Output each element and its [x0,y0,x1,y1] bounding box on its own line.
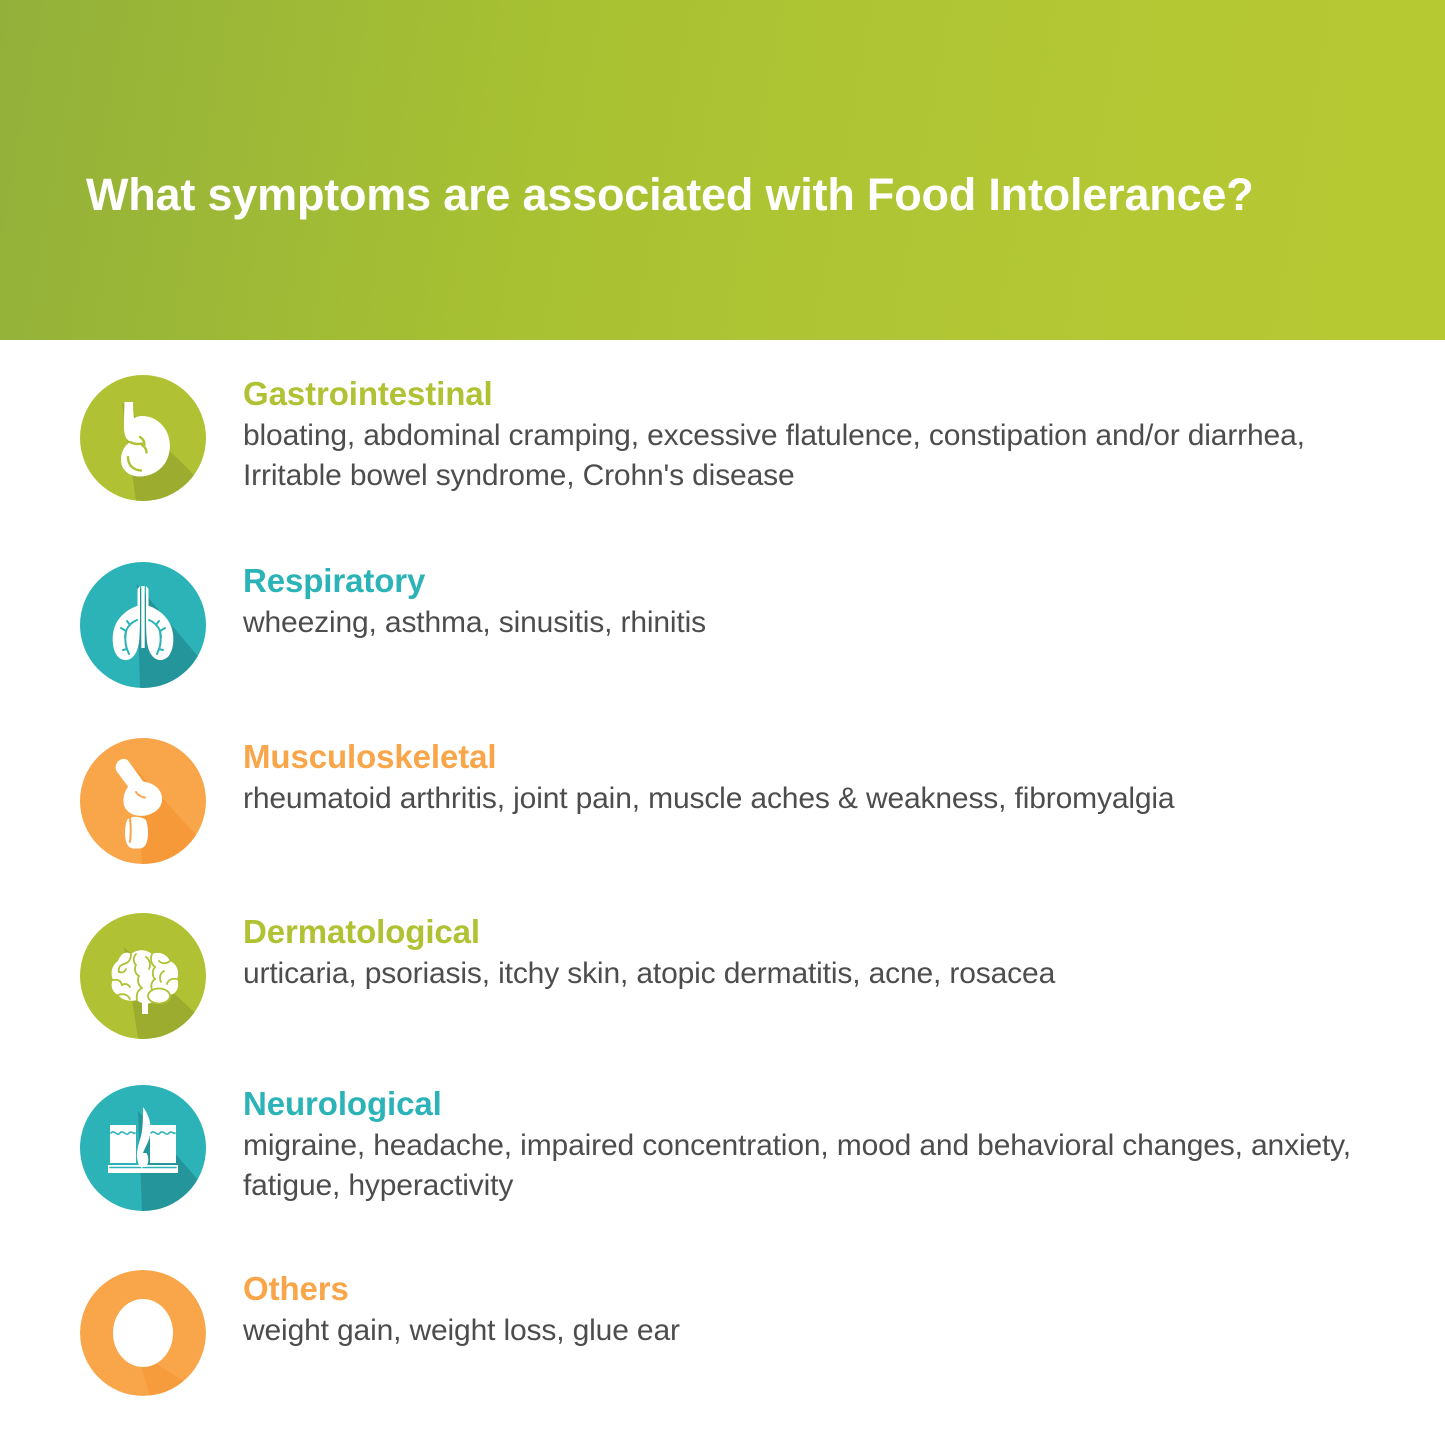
stomach-icon [80,375,206,501]
row-text-neurological: Neurological migraine, headache, impaire… [243,1085,1403,1206]
header-banner: What symptoms are associated with Food I… [0,0,1445,340]
row-text-musculoskeletal: Musculoskeletal rheumatoid arthritis, jo… [243,738,1403,819]
food-intolerance-infographic: What symptoms are associated with Food I… [0,0,1445,1445]
description-respiratory: wheezing, asthma, sinusitis, rhinitis [243,603,1403,643]
lungs-icon [80,562,206,688]
row-text-gastrointestinal: Gastrointestinal bloating, abdominal cra… [243,375,1403,496]
row-text-dermatological: Dermatological urticaria, psoriasis, itc… [243,913,1403,994]
description-neurological: migraine, headache, impaired concentrati… [243,1126,1403,1206]
heading-musculoskeletal: Musculoskeletal [243,738,1403,777]
row-text-respiratory: Respiratory wheezing, asthma, sinusitis,… [243,562,1403,643]
row-text-others: Others weight gain, weight loss, glue ea… [243,1270,1403,1351]
heading-respiratory: Respiratory [243,562,1403,601]
ring-icon [80,1270,206,1396]
heading-gastrointestinal: Gastrointestinal [243,375,1403,414]
heading-neurological: Neurological [243,1085,1403,1124]
page-title: What symptoms are associated with Food I… [86,170,1376,220]
description-musculoskeletal: rheumatoid arthritis, joint pain, muscle… [243,779,1403,819]
description-others: weight gain, weight loss, glue ear [243,1311,1403,1351]
heading-others: Others [243,1270,1403,1309]
brain-icon [80,913,206,1039]
description-gastrointestinal: bloating, abdominal cramping, excessive … [243,416,1403,496]
knee-joint-icon [80,738,206,864]
description-dermatological: urticaria, psoriasis, itchy skin, atopic… [243,954,1403,994]
skin-hair-follicle-icon [80,1085,206,1211]
heading-dermatological: Dermatological [243,913,1403,952]
